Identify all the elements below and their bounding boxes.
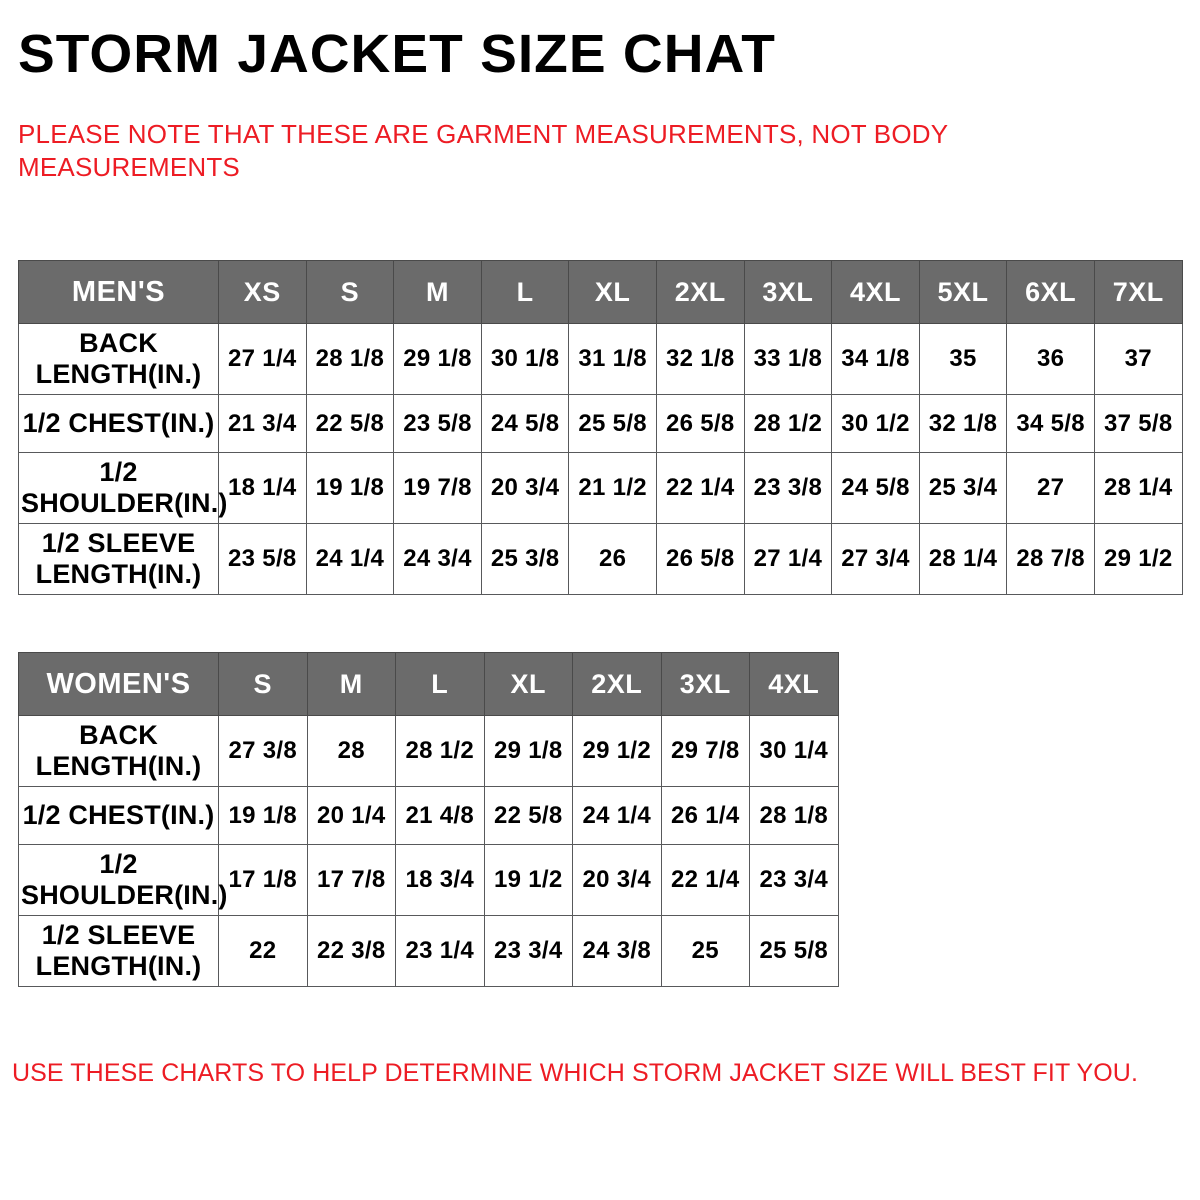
mens-cell-3-0: 23 5/8: [219, 524, 307, 595]
womens-header-size-l: L: [396, 653, 485, 716]
womens-cell-2-2: 18 3/4: [396, 845, 485, 916]
mens-cell-2-6: 23 3/8: [744, 453, 832, 524]
mens-cell-1-8: 32 1/8: [919, 395, 1007, 453]
table-row: 1/2 SLEEVELENGTH(IN.)23 5/824 1/424 3/42…: [19, 524, 1183, 595]
page-title: STORM JACKET SIZE CHAT: [18, 22, 776, 86]
mens-cell-0-5: 32 1/8: [656, 324, 744, 395]
mens-cell-3-2: 24 3/4: [394, 524, 482, 595]
mens-header-size-s: S: [306, 261, 394, 324]
womens-cell-2-5: 22 1/4: [661, 845, 750, 916]
mens-cell-2-8: 25 3/4: [919, 453, 1007, 524]
womens-cell-2-6: 23 3/4: [750, 845, 839, 916]
womens-header-size-m: M: [307, 653, 396, 716]
mens-header-size-2xl: 2XL: [656, 261, 744, 324]
mens-cell-0-8: 35: [919, 324, 1007, 395]
table-row: BACKLENGTH(IN.)27 1/428 1/829 1/830 1/83…: [19, 324, 1183, 395]
mens-header-size-xl: XL: [569, 261, 657, 324]
mens-header-title: MEN'S: [19, 261, 219, 324]
mens-header-size-4xl: 4XL: [832, 261, 920, 324]
mens-cell-3-4: 26: [569, 524, 657, 595]
table-row: 1/2 SLEEVELENGTH(IN.)2222 3/823 1/423 3/…: [19, 916, 839, 987]
womens-cell-1-4: 24 1/4: [573, 787, 662, 845]
measurement-disclaimer-note: PLEASE NOTE THAT THESE ARE GARMENT MEASU…: [18, 118, 978, 184]
womens-cell-1-1: 20 1/4: [307, 787, 396, 845]
womens-cell-1-5: 26 1/4: [661, 787, 750, 845]
mens-cell-1-2: 23 5/8: [394, 395, 482, 453]
mens-cell-2-5: 22 1/4: [656, 453, 744, 524]
mens-cell-1-9: 34 5/8: [1007, 395, 1095, 453]
mens-cell-2-9: 27: [1007, 453, 1095, 524]
womens-row-label-0: BACKLENGTH(IN.): [19, 716, 219, 787]
womens-row-label-2: 1/2 SHOULDER(IN.): [19, 845, 219, 916]
mens-table-body: BACKLENGTH(IN.)27 1/428 1/829 1/830 1/83…: [19, 324, 1183, 595]
mens-cell-3-8: 28 1/4: [919, 524, 1007, 595]
womens-row-label-3: 1/2 SLEEVELENGTH(IN.): [19, 916, 219, 987]
mens-size-table: MEN'SXSSMLXL2XL3XL4XL5XL6XL7XL BACKLENGT…: [18, 260, 1183, 595]
womens-cell-2-3: 19 1/2: [484, 845, 573, 916]
table-row: 1/2 SHOULDER(IN.)17 1/817 7/818 3/419 1/…: [19, 845, 839, 916]
womens-header-size-4xl: 4XL: [750, 653, 839, 716]
mens-header-row: MEN'SXSSMLXL2XL3XL4XL5XL6XL7XL: [19, 261, 1183, 324]
womens-cell-1-2: 21 4/8: [396, 787, 485, 845]
mens-cell-0-3: 30 1/8: [481, 324, 569, 395]
mens-cell-2-0: 18 1/4: [219, 453, 307, 524]
womens-cell-2-1: 17 7/8: [307, 845, 396, 916]
mens-header-size-xs: XS: [219, 261, 307, 324]
mens-header-size-l: L: [481, 261, 569, 324]
womens-cell-0-2: 28 1/2: [396, 716, 485, 787]
mens-cell-1-10: 37 5/8: [1094, 395, 1182, 453]
womens-cell-3-5: 25: [661, 916, 750, 987]
womens-header-size-s: S: [219, 653, 308, 716]
womens-cell-1-6: 28 1/8: [750, 787, 839, 845]
womens-cell-0-4: 29 1/2: [573, 716, 662, 787]
mens-header-size-3xl: 3XL: [744, 261, 832, 324]
mens-cell-2-1: 19 1/8: [306, 453, 394, 524]
womens-cell-3-3: 23 3/4: [484, 916, 573, 987]
womens-header-size-2xl: 2XL: [573, 653, 662, 716]
table-row: BACKLENGTH(IN.)27 3/82828 1/229 1/829 1/…: [19, 716, 839, 787]
mens-cell-2-2: 19 7/8: [394, 453, 482, 524]
table-row: 1/2 CHEST(IN.)21 3/422 5/823 5/824 5/825…: [19, 395, 1183, 453]
footer-helper-note: USE THESE CHARTS TO HELP DETERMINE WHICH…: [12, 1058, 1182, 1088]
mens-cell-1-7: 30 1/2: [832, 395, 920, 453]
mens-cell-2-7: 24 5/8: [832, 453, 920, 524]
mens-cell-0-4: 31 1/8: [569, 324, 657, 395]
womens-cell-3-0: 22: [219, 916, 308, 987]
mens-cell-0-6: 33 1/8: [744, 324, 832, 395]
mens-cell-3-7: 27 3/4: [832, 524, 920, 595]
womens-cell-2-4: 20 3/4: [573, 845, 662, 916]
mens-cell-1-6: 28 1/2: [744, 395, 832, 453]
mens-cell-3-10: 29 1/2: [1094, 524, 1182, 595]
size-chart-page: STORM JACKET SIZE CHAT PLEASE NOTE THAT …: [0, 0, 1200, 1200]
mens-cell-1-5: 26 5/8: [656, 395, 744, 453]
womens-cell-3-4: 24 3/8: [573, 916, 662, 987]
mens-cell-0-9: 36: [1007, 324, 1095, 395]
mens-cell-2-3: 20 3/4: [481, 453, 569, 524]
mens-cell-0-1: 28 1/8: [306, 324, 394, 395]
mens-row-label-2: 1/2 SHOULDER(IN.): [19, 453, 219, 524]
table-row: 1/2 CHEST(IN.)19 1/820 1/421 4/822 5/824…: [19, 787, 839, 845]
mens-header-size-6xl: 6XL: [1007, 261, 1095, 324]
mens-header-size-5xl: 5XL: [919, 261, 1007, 324]
womens-cell-0-0: 27 3/8: [219, 716, 308, 787]
mens-header-size-7xl: 7XL: [1094, 261, 1182, 324]
mens-cell-3-9: 28 7/8: [1007, 524, 1095, 595]
mens-cell-1-4: 25 5/8: [569, 395, 657, 453]
womens-cell-0-6: 30 1/4: [750, 716, 839, 787]
mens-cell-3-6: 27 1/4: [744, 524, 832, 595]
womens-cell-0-1: 28: [307, 716, 396, 787]
womens-header-size-xl: XL: [484, 653, 573, 716]
mens-cell-3-1: 24 1/4: [306, 524, 394, 595]
womens-row-label-1: 1/2 CHEST(IN.): [19, 787, 219, 845]
mens-row-label-3: 1/2 SLEEVELENGTH(IN.): [19, 524, 219, 595]
mens-row-label-1: 1/2 CHEST(IN.): [19, 395, 219, 453]
womens-header-size-3xl: 3XL: [661, 653, 750, 716]
mens-cell-0-0: 27 1/4: [219, 324, 307, 395]
mens-cell-3-3: 25 3/8: [481, 524, 569, 595]
mens-cell-2-10: 28 1/4: [1094, 453, 1182, 524]
mens-row-label-0: BACKLENGTH(IN.): [19, 324, 219, 395]
mens-cell-2-4: 21 1/2: [569, 453, 657, 524]
womens-cell-0-5: 29 7/8: [661, 716, 750, 787]
womens-cell-3-2: 23 1/4: [396, 916, 485, 987]
mens-cell-1-0: 21 3/4: [219, 395, 307, 453]
womens-cell-2-0: 17 1/8: [219, 845, 308, 916]
mens-cell-3-5: 26 5/8: [656, 524, 744, 595]
mens-cell-1-3: 24 5/8: [481, 395, 569, 453]
mens-table-head: MEN'SXSSMLXL2XL3XL4XL5XL6XL7XL: [19, 261, 1183, 324]
mens-cell-1-1: 22 5/8: [306, 395, 394, 453]
womens-size-table: WOMEN'SSMLXL2XL3XL4XL BACKLENGTH(IN.)27 …: [18, 652, 839, 987]
womens-table-body: BACKLENGTH(IN.)27 3/82828 1/229 1/829 1/…: [19, 716, 839, 987]
womens-cell-1-0: 19 1/8: [219, 787, 308, 845]
womens-cell-0-3: 29 1/8: [484, 716, 573, 787]
mens-cell-0-2: 29 1/8: [394, 324, 482, 395]
mens-cell-0-7: 34 1/8: [832, 324, 920, 395]
table-row: 1/2 SHOULDER(IN.)18 1/419 1/819 7/820 3/…: [19, 453, 1183, 524]
womens-cell-1-3: 22 5/8: [484, 787, 573, 845]
mens-cell-0-10: 37: [1094, 324, 1182, 395]
womens-header-row: WOMEN'SSMLXL2XL3XL4XL: [19, 653, 839, 716]
mens-header-size-m: M: [394, 261, 482, 324]
womens-header-title: WOMEN'S: [19, 653, 219, 716]
womens-cell-3-6: 25 5/8: [750, 916, 839, 987]
womens-cell-3-1: 22 3/8: [307, 916, 396, 987]
womens-table-head: WOMEN'SSMLXL2XL3XL4XL: [19, 653, 839, 716]
